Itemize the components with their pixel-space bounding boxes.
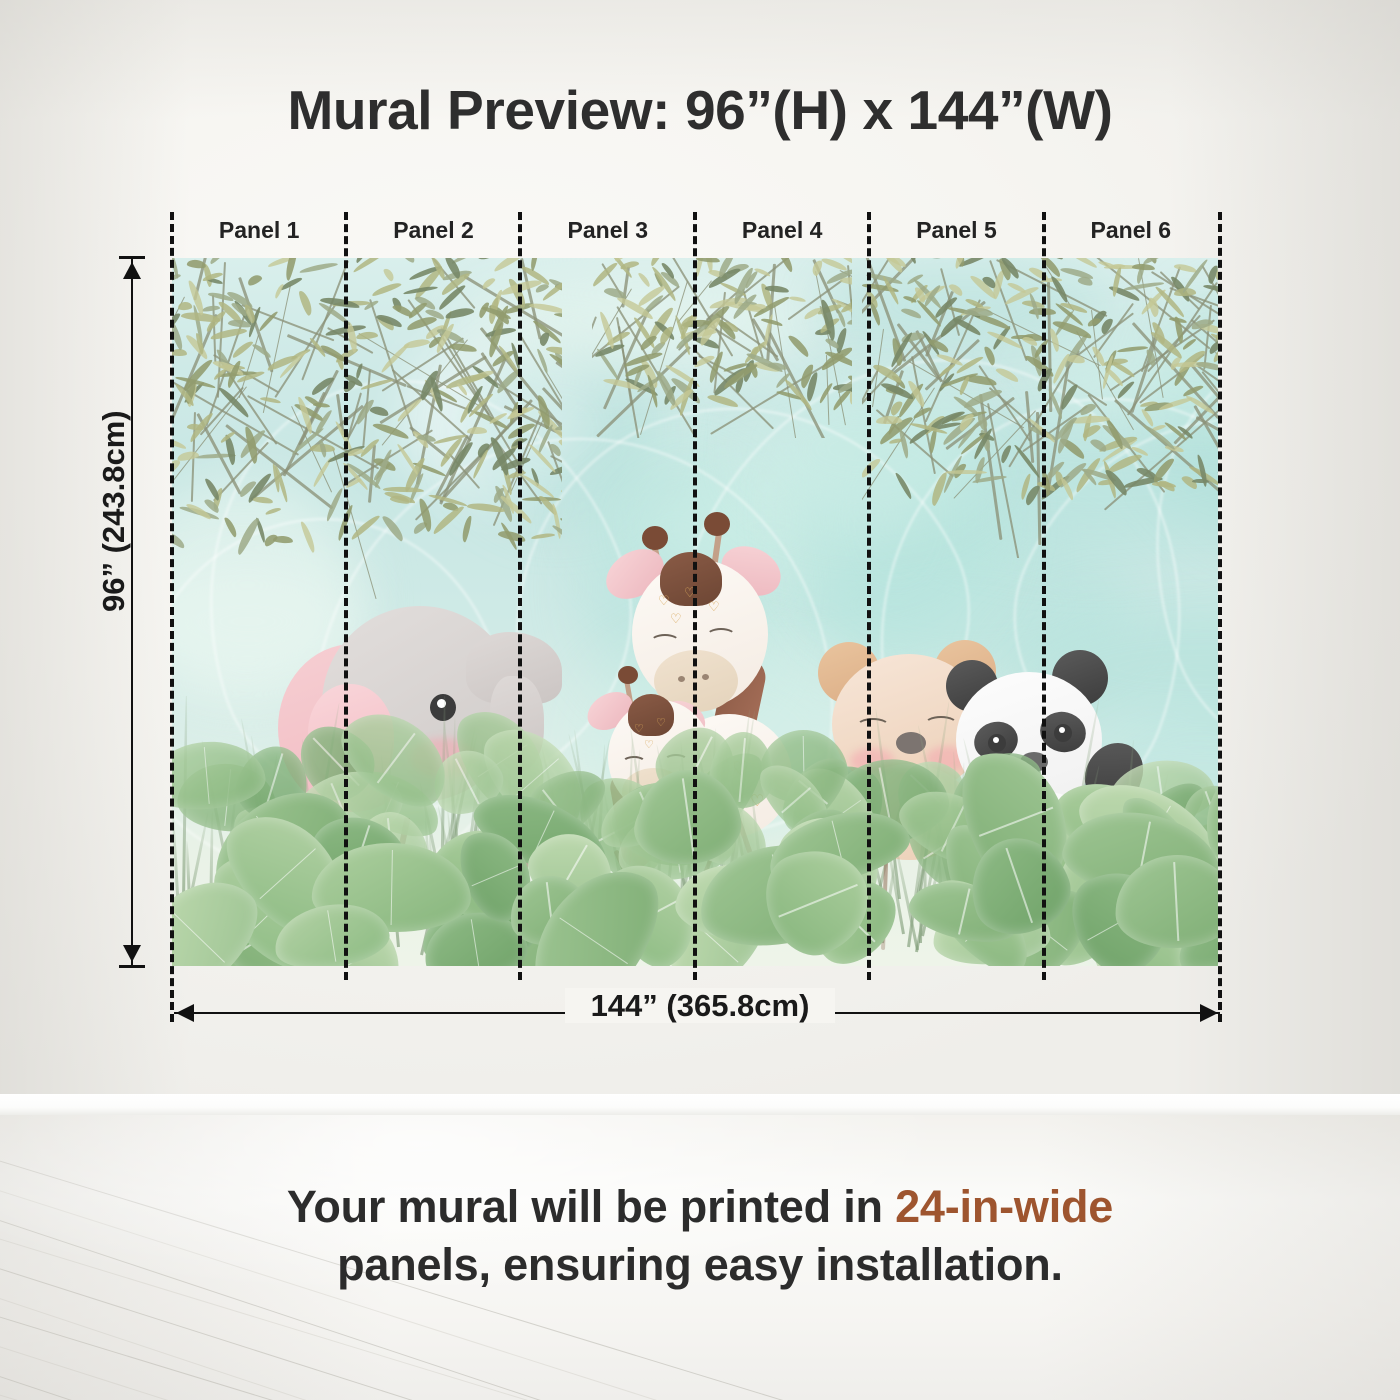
panel-divider-5: [1042, 212, 1046, 980]
canopy-leaf: [1078, 401, 1097, 416]
canopy-leaf: [787, 333, 812, 359]
canopy-leaf: [945, 470, 987, 474]
canopy-leaf: [279, 276, 302, 292]
canopy-leaf: [274, 283, 285, 299]
caption-prefix: Your mural will be printed in: [287, 1181, 895, 1232]
height-dimension-arrow: [131, 258, 133, 966]
panel-label-4: Panel 4: [695, 213, 869, 247]
canopy-leaf: [995, 366, 1020, 384]
canopy-leaf: [1117, 345, 1148, 352]
panel-label-6: Panel 6: [1044, 213, 1218, 247]
panel-divider-3: [693, 212, 697, 980]
canopy-leaf: [172, 437, 187, 450]
canopy-leaf: [298, 289, 314, 316]
caption-line-1: Your mural will be printed in 24-in-wide: [0, 1178, 1400, 1236]
width-dimension-text: 144” (365.8cm): [565, 988, 836, 1023]
canopy-leaf: [262, 532, 278, 547]
height-cap-top: [119, 256, 145, 259]
canopy-leaf: [707, 392, 740, 408]
canopy-foliage-middle: [592, 258, 852, 438]
height-dimension-label: 96” (243.8cm): [96, 410, 132, 612]
panel-label-5: Panel 5: [869, 213, 1043, 247]
canopy-leaf: [202, 305, 221, 313]
canopy-leaf: [381, 513, 406, 542]
canopy-leaf: [372, 421, 410, 441]
canopy-leaf: [223, 516, 239, 538]
panel-divider-4: [867, 212, 871, 980]
panel-label-3: Panel 3: [521, 213, 695, 247]
panel-divider-1: [344, 212, 348, 980]
canopy-leaf: [561, 488, 562, 493]
canopy-leaf: [481, 276, 497, 290]
canopy-leaf: [477, 258, 492, 260]
canopy-foliage-right: [862, 258, 1218, 558]
canopy-leaf: [371, 281, 402, 298]
canopy-leaf: [821, 258, 848, 271]
canopy-leaf: [461, 515, 473, 543]
canopy-leaf: [300, 520, 317, 553]
mural-preview-area: ♡ ♡ ♡ ♡ ♡ ♡ ♡ ♡: [172, 258, 1218, 966]
height-arrowhead-up: [123, 262, 141, 279]
canopy-leaf: [253, 496, 274, 504]
footer-caption: Your mural will be printed in 24-in-wide…: [0, 1178, 1400, 1293]
mural-left-edge-line: [170, 212, 174, 1022]
canopy-leaf: [246, 273, 263, 287]
canopy-leaf: [894, 471, 913, 500]
canopy-leaf: [789, 295, 806, 302]
canopy-leaf: [400, 258, 416, 264]
canopy-leaf: [862, 456, 882, 479]
canopy-leaf: [382, 267, 396, 283]
canopy-foliage-left: [172, 258, 562, 618]
caption-line-2: panels, ensuring easy installation.: [0, 1236, 1400, 1294]
canopy-leaf: [1069, 258, 1099, 269]
panel-label-1: Panel 1: [172, 213, 346, 247]
canopy-leaf: [467, 427, 487, 434]
canopy-leaf: [529, 258, 539, 271]
canopy-twig: [592, 316, 597, 366]
canopy-leaf: [210, 326, 248, 340]
canopy-leaf: [1181, 258, 1208, 293]
canopy-leaf: [1081, 422, 1102, 439]
canopy-leaf: [923, 258, 943, 259]
panel-label-2: Panel 2: [346, 213, 520, 247]
canopy-leaf: [234, 516, 260, 556]
canopy-leaf: [531, 532, 555, 539]
canopy-leaf: [876, 416, 902, 425]
canopy-leaf: [178, 301, 193, 310]
mural-preview-scene: Mural Preview: 96”(H) x 144”(W) Panel 1 …: [0, 0, 1400, 1400]
canopy-leaf: [637, 271, 651, 287]
canopy-leaf: [1098, 260, 1119, 271]
mural-right-edge-line: [1218, 212, 1222, 1022]
canopy-leaf: [445, 306, 475, 319]
width-dimension-label: 144” (365.8cm): [0, 988, 1400, 1024]
canopy-leaf: [818, 382, 833, 404]
height-arrowhead-down: [123, 945, 141, 962]
canopy-leaf: [299, 261, 338, 274]
caption-accent: 24-in-wide: [895, 1181, 1113, 1232]
page-title: Mural Preview: 96”(H) x 144”(W): [0, 78, 1400, 142]
canopy-leaf: [265, 506, 281, 515]
canopy-leaf: [369, 405, 389, 417]
canopy-leaf: [901, 306, 923, 319]
canopy-leaf: [467, 502, 506, 513]
canopy-leaf: [537, 348, 550, 374]
canopy-leaf: [397, 443, 420, 475]
height-cap-bottom: [119, 965, 145, 968]
canopy-leaf: [209, 258, 225, 265]
wall-left-shading: [0, 0, 190, 1118]
panel-divider-2: [518, 212, 522, 980]
canopy-leaf: [172, 528, 187, 550]
